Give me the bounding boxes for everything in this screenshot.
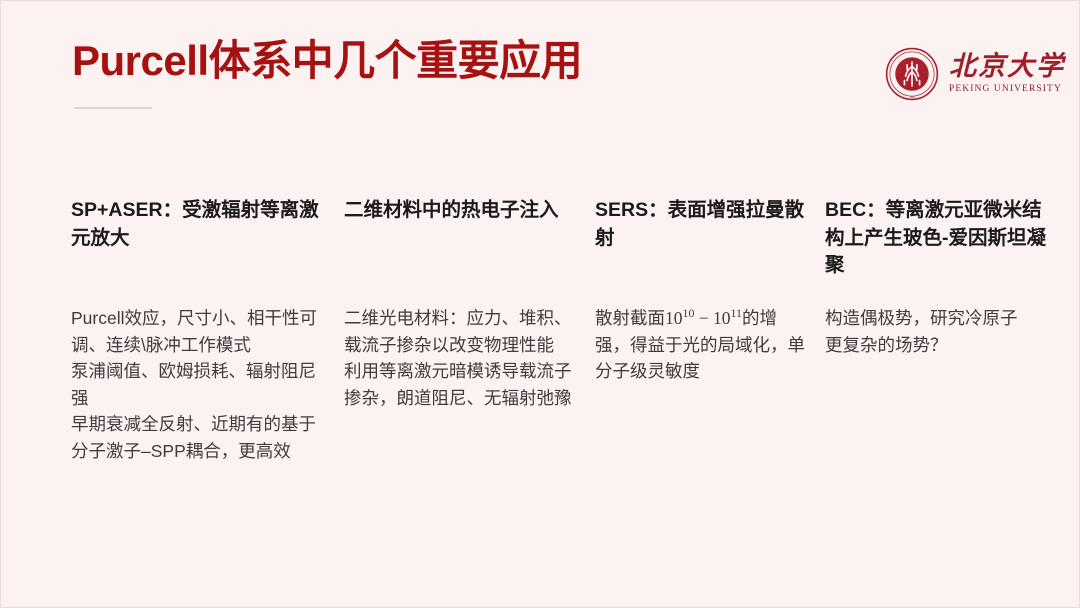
column-body: 构造偶极势，研究冷原子 更复杂的场势？ [825,305,1047,358]
column-heading: BEC：等离激元亚微米结构上产生玻色-爱因斯坦凝聚 [825,197,1047,280]
column-body: Purcell效应，尺寸小、相干性可调、连续\脉冲工作模式 泵浦阈值、欧姆损耗、… [71,305,329,465]
slide-canvas: Purcell体系中几个重要应用 · · · · · 1898 [0,0,1080,608]
column-body: 散射截面1010 − 1011的增强，得益于光的局域化，单分子级灵敏度 [595,305,807,385]
logo-wordmark: 北京大学 PEKING UNIVERSITY [949,53,1065,95]
math-base-2: 10 [713,308,731,328]
column-heading: SERS：表面增强拉曼散射 [595,197,807,252]
peking-university-logo: · · · · · 1898 北京大学 PEKING UNIVERSITY [885,45,1043,103]
column-heading: 二维材料中的热电子注入 [344,197,574,225]
math-exponent-2: 11 [731,306,742,320]
body-text-prefix: 散射截面 [595,308,665,328]
column-bec: BEC：等离激元亚微米结构上产生玻色-爱因斯坦凝聚 构造偶极势，研究冷原子 更复… [825,197,1047,280]
math-separator: − [694,308,713,328]
logo-name-cn: 北京大学 [949,53,1065,80]
column-sers: SERS：表面增强拉曼散射 散射截面1010 − 1011的增强，得益于光的局域… [595,197,807,252]
scattering-cross-section-value: 1010 − 1011 [665,308,742,328]
content-columns: SP+ASER：受激辐射等离激元放大 Purcell效应，尺寸小、相干性可调、连… [1,197,1080,577]
title-divider [74,107,152,109]
math-exponent-1: 10 [683,306,695,320]
math-base-1: 10 [665,308,683,328]
page-title: Purcell体系中几个重要应用 [72,37,582,85]
svg-text:· · · · ·: · · · · · [908,51,915,54]
column-body: 二维光电材料：应力、堆积、载流子掺杂以改变物理性能 利用等离激元暗模诱导载流子掺… [344,305,574,411]
svg-text:1898: 1898 [909,96,915,99]
logo-name-en: PEKING UNIVERSITY [949,85,1065,95]
university-seal-icon: · · · · · 1898 [885,47,939,101]
column-heading: SP+ASER：受激辐射等离激元放大 [71,197,329,252]
column-2d-material: 二维材料中的热电子注入 二维光电材料：应力、堆积、载流子掺杂以改变物理性能 利用… [344,197,574,225]
column-sp-aser: SP+ASER：受激辐射等离激元放大 Purcell效应，尺寸小、相干性可调、连… [71,197,329,252]
